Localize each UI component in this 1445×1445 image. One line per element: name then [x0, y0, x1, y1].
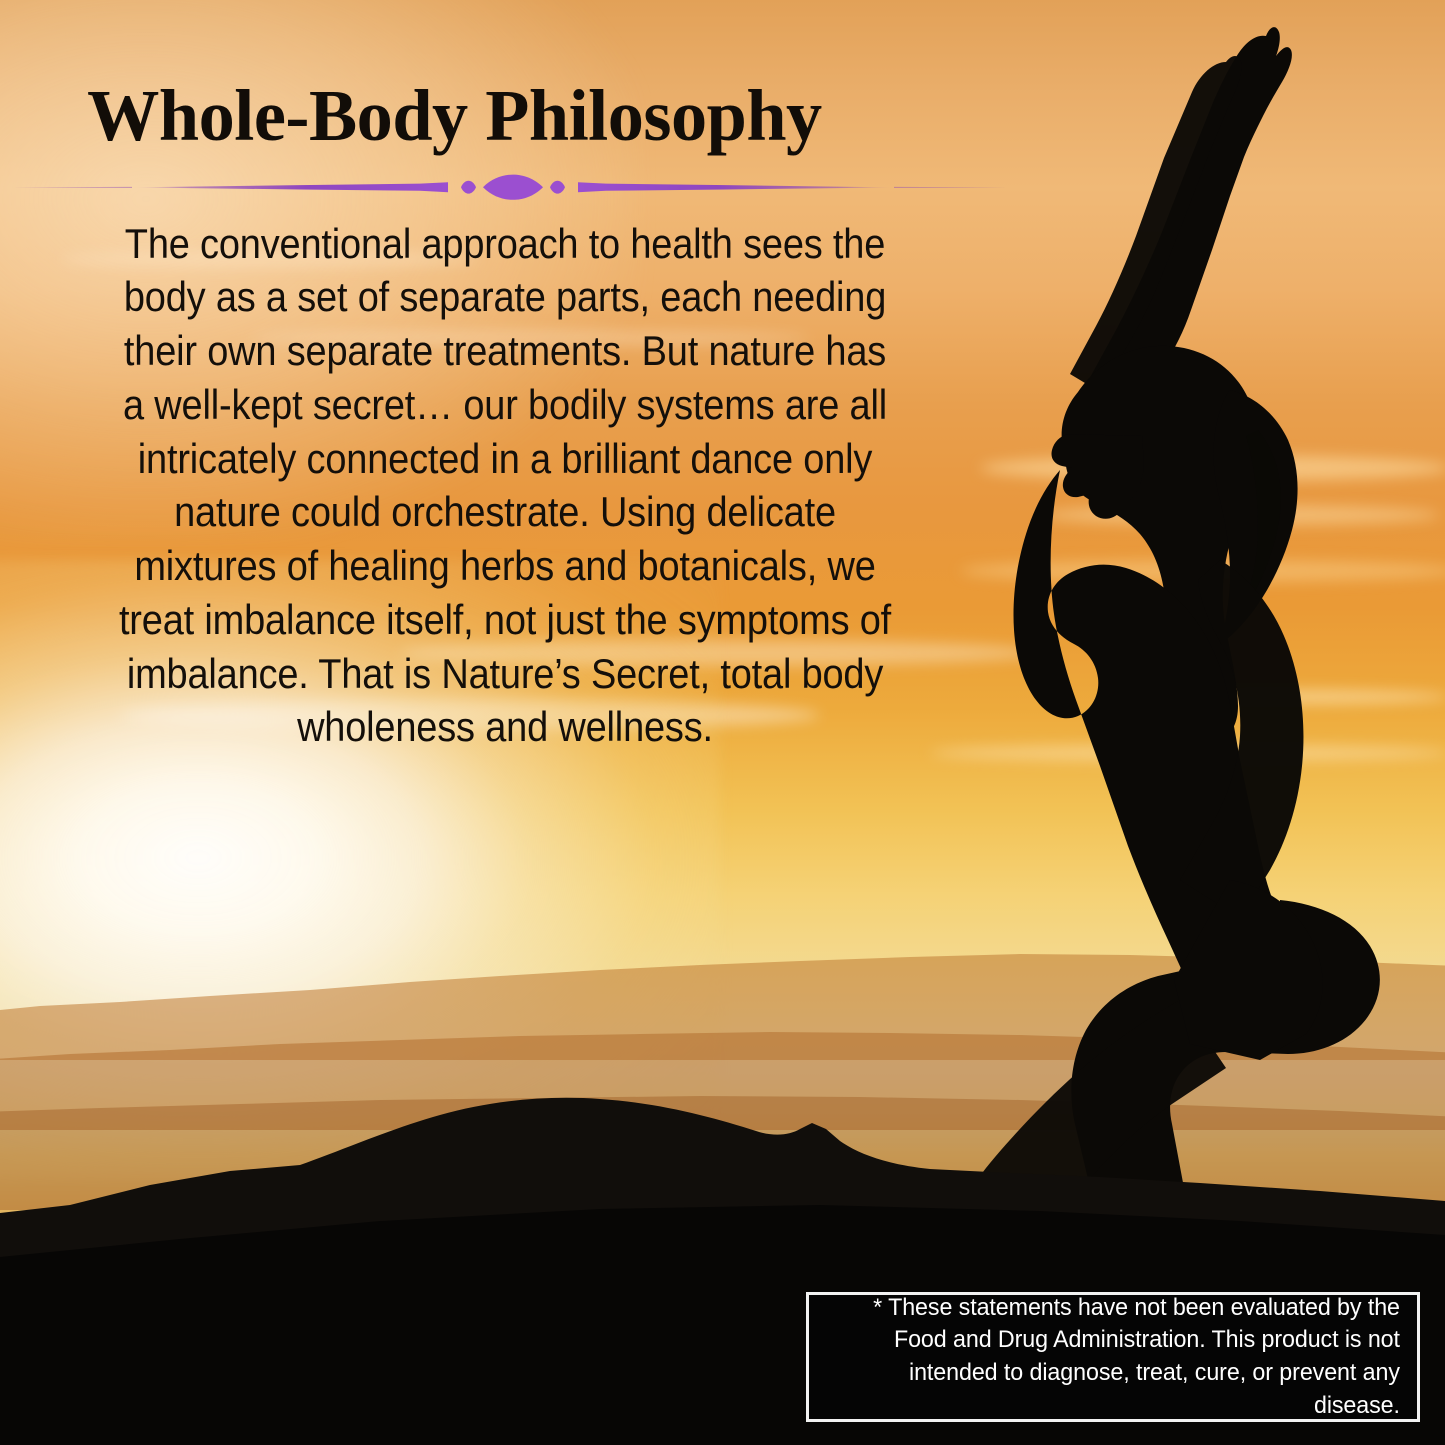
text-panel: Whole-Body Philosophy	[0, 0, 1010, 754]
fda-disclaimer-text: * These statements have not been evaluat…	[839, 1292, 1417, 1422]
ornamental-divider	[0, 171, 1010, 203]
page-title: Whole-Body Philosophy	[0, 0, 1000, 155]
fda-disclaimer-box: * These statements have not been evaluat…	[806, 1292, 1420, 1422]
body-paragraph: The conventional approach to health sees…	[43, 203, 967, 754]
poster-canvas: Whole-Body Philosophy	[0, 0, 1445, 1445]
